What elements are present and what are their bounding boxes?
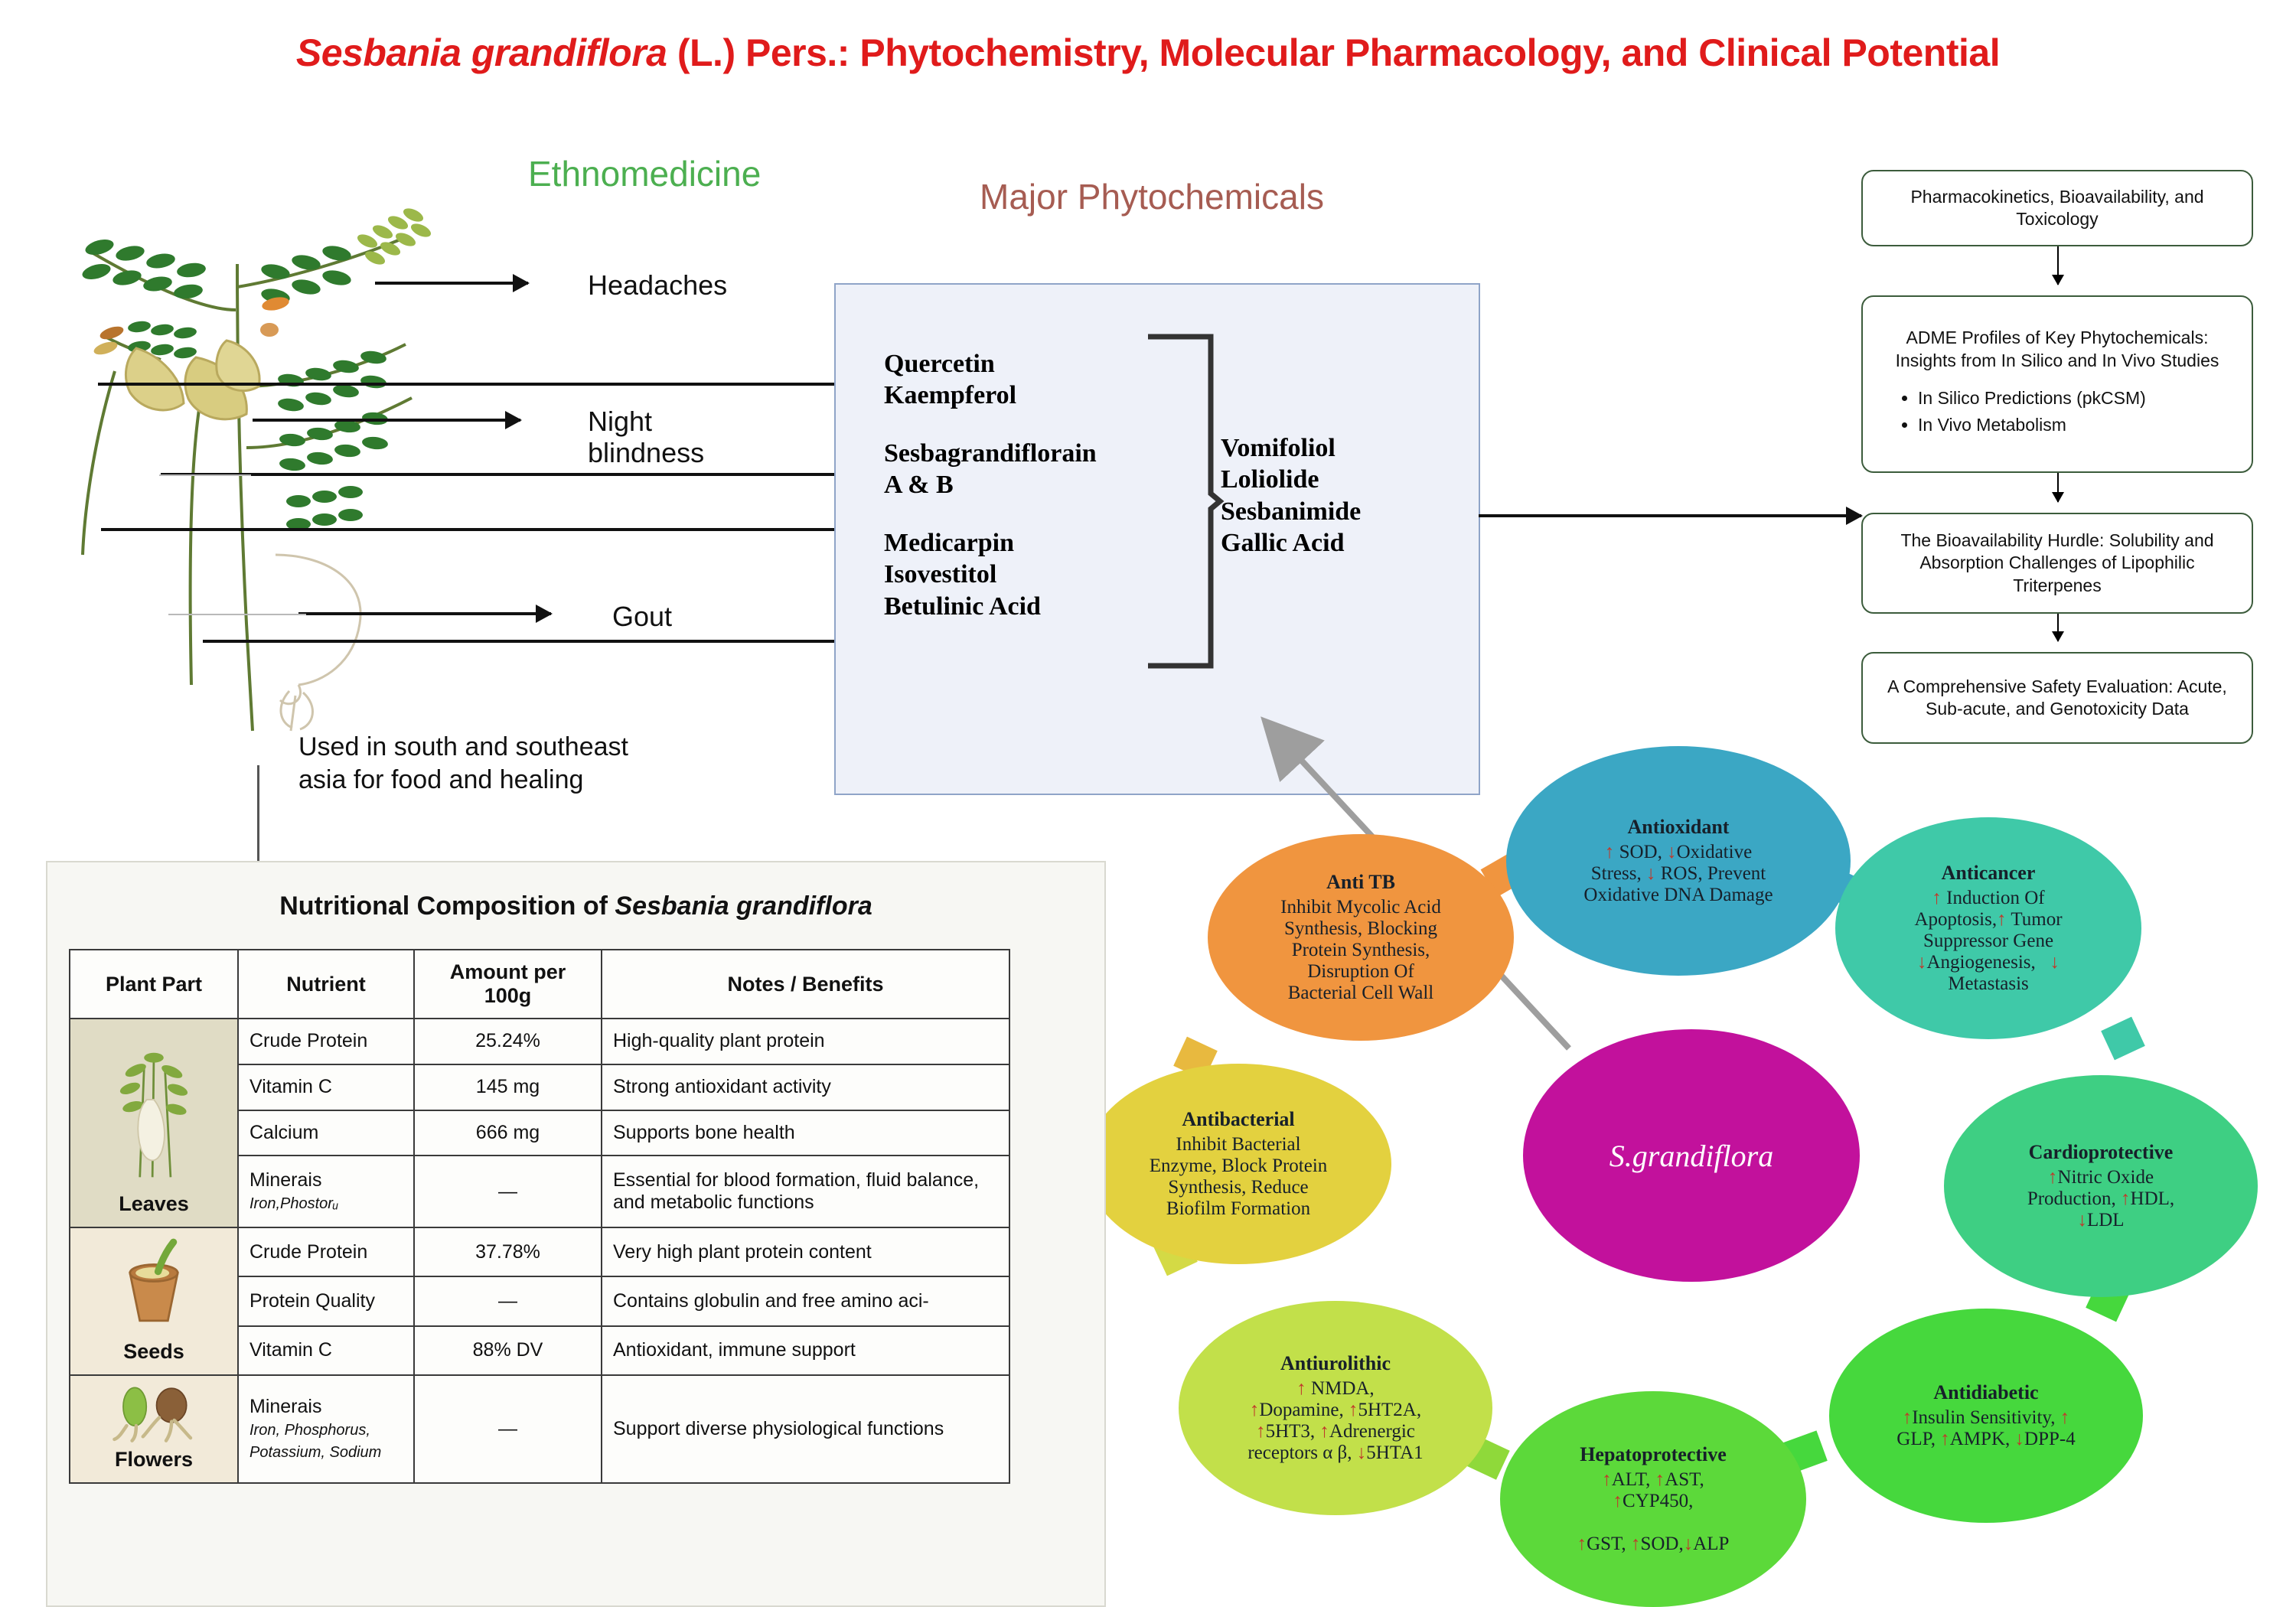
ethnomedicine-heading: Ethnomedicine [528,153,761,194]
nutrient-notes: Contains globulin and free amino aci- [602,1276,1009,1325]
flow-box-2-bullet-0: In Silico Predictions (pkCSM) [1918,387,2238,409]
arrow-to-phyto-4 [203,640,867,643]
node-anti-tb-body: Inhibit Mycolic AcidSynthesis, BlockingP… [1280,897,1441,1004]
arrow-to-phyto-1 [98,383,863,386]
arrow-headaches [375,282,528,285]
node-antioxidant-body: ↑ SOD, ↓OxidativeStress, ↓ ROS, PreventO… [1583,842,1773,906]
node-cardioprotective-body: ↑Nitric OxideProduction, ↑HDL,↓LDL [2027,1167,2174,1231]
node-anti-tb[interactable]: Anti TB Inhibit Mycolic AcidSynthesis, B… [1208,834,1514,1041]
nutrient-name: Minerais [249,1396,321,1417]
seeds-mortar-icon [112,1236,196,1335]
phyto-item-gallic-acid: Gallic Acid [1221,527,1450,559]
nutrient-amount: 88% DV [414,1326,602,1375]
nutrition-table: Plant Part Nutrient Amount per 100g Note… [69,949,1010,1484]
col-notes: Notes / Benefits [602,950,1009,1019]
phyto-item-loliolide: Loliolide [1221,464,1450,495]
flow-box-4-label: A Comprehensive Safety Evaluation: Acute… [1877,676,2238,721]
flowers-icon [106,1384,202,1445]
flow-box-2-label: ADME Profiles of Key Phytochemicals: Ins… [1877,327,2238,372]
node-antidiabetic-title: Antidiabetic [1933,1381,2038,1404]
ethno-use-headaches: Headaches [588,269,727,301]
node-anticancer-body: ↑ Induction OfApoptosis,↑ TumorSuppresso… [1914,888,2062,995]
nutrient-notes: Essential for blood formation, fluid bal… [602,1156,1009,1227]
node-antiurolithic-title: Antiurolithic [1280,1352,1391,1375]
node-antibacterial[interactable]: Antibacterial Inhibit BacterialEnzyme, B… [1085,1064,1391,1264]
ethno-use-night-blindness: Nightblindness [588,406,704,469]
nutrient-sub: Iron,Phostorᵤ [249,1195,338,1212]
nutrient-notes: Strong antioxidant activity [602,1064,1009,1110]
node-antioxidant[interactable]: Antioxidant ↑ SOD, ↓OxidativeStress, ↓ R… [1506,746,1851,976]
plant-part-seeds-label: Seeds [123,1340,184,1363]
phyto-item-sesbanimide: Sesbanimide [1221,496,1450,527]
node-hepatoprotective-body: ↑ALT, ↑AST,↑CYP450,↑GST, ↑SOD,↓ALP [1577,1469,1730,1555]
node-center-label: S.grandiflora [1609,1138,1773,1174]
flow-box-safety[interactable]: A Comprehensive Safety Evaluation: Acute… [1861,652,2253,744]
nutrient-amount: — [414,1156,602,1227]
flow-box-2-bullets: In Silico Predictions (pkCSM) In Vivo Me… [1877,383,2238,442]
flow-box-bioavailability[interactable]: The Bioavailability Hurdle: Solubility a… [1861,513,2253,614]
node-antidiabetic[interactable]: Antidiabetic ↑Insulin Sensitivity, ↑GLP,… [1829,1309,2143,1523]
sesbania-plant-illustration [46,195,459,761]
leaves-icon [112,1027,196,1188]
connector-anticancer-cardio [2101,1017,2145,1061]
flow-box-1-label: Pharmacokinetics, Bioavailability, and T… [1877,186,2238,231]
phyto-item-vomifoliol: Vomifoliol [1221,432,1450,464]
node-cardioprotective-title: Cardioprotective [2029,1141,2174,1164]
col-plant-part: Plant Part [70,950,238,1019]
nutrient-sub: Iron, Phosphorus, Potassium, Sodium [249,1422,381,1461]
flow-arrow-2 [2057,473,2059,502]
nutrient-name: Crude Protein [238,1019,414,1064]
arrow-phyto-to-pk [1479,514,1861,517]
col-nutrient: Nutrient [238,950,414,1019]
plant-part-seeds: Seeds [70,1227,238,1375]
ethno-use-gout: Gout [612,601,672,632]
node-antiurolithic[interactable]: Antiurolithic ↑ NMDA,↑Dopamine, ↑5HT2A,↑… [1179,1301,1492,1515]
nutrition-panel-title: Nutritional Composition of Sesbania gran… [46,892,1106,921]
node-anti-tb-title: Anti TB [1326,871,1395,894]
nutrient-name: Calcium [238,1110,414,1156]
nutrition-title-prefix: Nutritional Composition of [279,892,615,921]
nutrient-amount: — [414,1276,602,1325]
nutrient-notes: Antioxidant, immune support [602,1326,1009,1375]
nutrient-name: Vitamin C [238,1064,414,1110]
col-amount: Amount per 100g [414,950,602,1019]
plant-part-leaves: Leaves [70,1019,238,1227]
table-header-row: Plant Part Nutrient Amount per 100g Note… [70,950,1009,1019]
nutrient-name-with-sub: Minerais Iron, Phosphorus, Potassium, So… [238,1375,414,1483]
nutrient-notes: High-quality plant protein [602,1019,1009,1064]
phytochemicals-heading: Major Phytochemicals [980,176,1324,217]
node-antioxidant-title: Antioxidant [1628,816,1730,839]
arrow-night-blindness [253,419,520,422]
flow-arrow-1 [2057,246,2059,285]
flow-box-3-label: The Bioavailability Hurdle: Solubility a… [1877,530,2238,597]
phytochemicals-right-list: Vomifoliol Loliolide Sesbanimide Gallic … [1221,432,1450,559]
table-row: Flowers Minerais Iron, Phosphorus, Potas… [70,1375,1009,1483]
node-antibacterial-title: Antibacterial [1182,1108,1294,1131]
arrow-to-phyto-2 [161,473,865,476]
line-helper-2 [168,614,306,615]
title-rest: (L.) Pers.: Phytochemistry, Molecular Ph… [667,31,2000,74]
flow-arrow-3 [2057,614,2059,641]
nutrient-amount: 145 mg [414,1064,602,1110]
node-hepatoprotective[interactable]: Hepatoprotective ↑ALT, ↑AST,↑CYP450,↑GST… [1500,1391,1806,1607]
node-center-species[interactable]: S.grandiflora [1523,1029,1860,1282]
flow-box-adme[interactable]: ADME Profiles of Key Phytochemicals: Ins… [1861,295,2253,473]
flow-box-2-bullet-1: In Vivo Metabolism [1918,414,2238,436]
nutrient-amount: — [414,1375,602,1483]
table-row: Leaves Crude Protein 25.24% High-quality… [70,1019,1009,1064]
nutrient-notes: Support diverse physiological functions [602,1375,1009,1483]
nutrient-name: Minerais [249,1169,321,1191]
nutrient-notes: Very high plant protein content [602,1227,1009,1276]
nutrient-name-with-sub: Minerais Iron,Phostorᵤ [238,1156,414,1227]
arrow-to-phyto-3 [101,528,866,531]
plant-part-flowers-label: Flowers [115,1448,193,1471]
node-antidiabetic-body: ↑Insulin Sensitivity, ↑GLP, ↑AMPK, ↓DPP-… [1896,1407,2075,1450]
nutrition-title-species: Sesbania grandiflora [615,892,872,921]
node-anticancer-title: Anticancer [1942,862,2036,885]
nutrient-name: Crude Protein [238,1227,414,1276]
node-antibacterial-body: Inhibit BacterialEnzyme, Block ProteinSy… [1150,1134,1328,1220]
node-anticancer[interactable]: Anticancer ↑ Induction OfApoptosis,↑ Tum… [1835,817,2141,1039]
nutrient-name: Vitamin C [238,1326,414,1375]
node-hepatoprotective-title: Hepatoprotective [1580,1443,1727,1466]
page-title: Sesbania grandiflora (L.) Pers.: Phytoch… [0,31,2296,75]
nutrient-name: Protein Quality [238,1276,414,1325]
table-row: Seeds Crude Protein 37.78% Very high pla… [70,1227,1009,1276]
node-antiurolithic-body: ↑ NMDA,↑Dopamine, ↑5HT2A,↑5HT3, ↑Adrener… [1247,1378,1423,1464]
nutrient-amount: 666 mg [414,1110,602,1156]
plant-part-flowers: Flowers [70,1375,238,1483]
nutrient-amount: 25.24% [414,1019,602,1064]
line-helper-1 [159,474,251,476]
nutrient-notes: Supports bone health [602,1110,1009,1156]
table-plant-connector [257,765,259,863]
nutrient-amount: 37.78% [414,1227,602,1276]
title-species: Sesbania grandiflora [296,31,667,74]
arrow-gout [298,612,551,615]
ethno-footnote: Used in south and southeastasia for food… [298,731,628,796]
node-cardioprotective[interactable]: Cardioprotective ↑Nitric OxideProduction… [1944,1075,2258,1297]
plant-part-leaves-label: Leaves [119,1192,189,1215]
flow-box-pharmacokinetics[interactable]: Pharmacokinetics, Bioavailability, and T… [1861,170,2253,246]
